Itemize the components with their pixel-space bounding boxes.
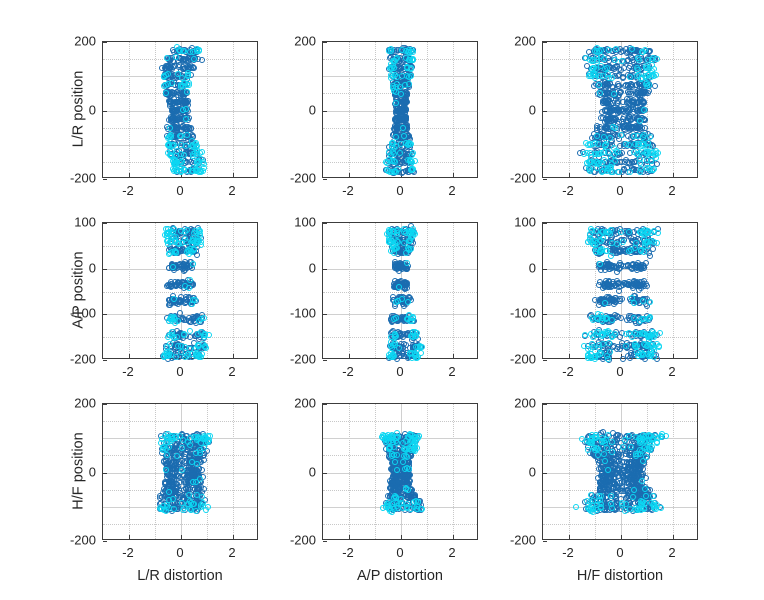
scatter-marker	[192, 297, 198, 303]
y-tick-mark	[103, 179, 107, 180]
y-tick-label: 100	[268, 215, 316, 230]
scatter-marker	[637, 118, 643, 124]
scatter-marker	[409, 152, 415, 158]
x-tick-mark	[233, 535, 234, 539]
y-tick-mark	[543, 42, 547, 43]
scatter-marker	[620, 99, 626, 105]
scatter-marker	[410, 334, 416, 340]
x-tick-label: 0	[616, 364, 623, 379]
x-tick-label: 2	[668, 183, 675, 198]
scatter-marker	[191, 56, 197, 62]
scatter-marker	[646, 82, 652, 88]
scatter-marker	[190, 479, 196, 485]
axes-box	[542, 41, 698, 178]
gridline-vertical	[453, 404, 454, 539]
scatter-marker	[650, 167, 656, 173]
scatter-marker	[186, 248, 192, 254]
scatter-marker	[194, 350, 200, 356]
scatter-marker	[170, 264, 176, 270]
x-tick-mark	[569, 354, 570, 358]
x-tick-mark	[129, 173, 130, 177]
scatter-marker	[196, 158, 202, 164]
scatter-marker	[619, 58, 625, 64]
scatter-marker	[633, 125, 639, 131]
scatter-marker	[613, 46, 619, 52]
x-tick-label: 2	[228, 545, 235, 560]
scatter-marker	[388, 48, 394, 54]
x-tick-mark	[233, 354, 234, 358]
scatter-marker	[642, 47, 648, 53]
scatter-marker	[620, 124, 626, 130]
scatter-marker	[173, 435, 179, 441]
scatter-marker	[174, 453, 180, 459]
scatter-marker	[626, 248, 632, 254]
scatter-marker	[165, 71, 171, 77]
x-tick-label: 2	[228, 364, 235, 379]
scatter-marker	[188, 159, 194, 165]
scatter-panel-r1-c0	[102, 222, 258, 359]
scatter-marker	[598, 47, 604, 53]
scatter-marker	[604, 315, 610, 321]
scatter-marker	[406, 74, 412, 80]
gridline-vertical	[207, 404, 208, 539]
scatter-marker	[175, 343, 181, 349]
scatter-marker	[629, 159, 635, 165]
scatter-marker	[651, 73, 657, 79]
gridline-vertical	[375, 42, 376, 177]
scatter-marker	[620, 239, 626, 245]
scatter-marker	[586, 159, 592, 165]
scatter-marker	[592, 242, 598, 248]
axes-box	[102, 41, 258, 178]
scatter-marker	[406, 238, 412, 244]
scatter-marker	[596, 82, 602, 88]
x-tick-label: -2	[562, 364, 574, 379]
scatter-marker	[183, 317, 189, 323]
scatter-marker	[585, 346, 591, 352]
y-tick-mark	[323, 111, 327, 112]
x-tick-label: 2	[448, 545, 455, 560]
gridline-vertical	[155, 404, 156, 539]
y-tick-mark	[103, 360, 107, 361]
scatter-marker	[187, 435, 193, 441]
scatter-marker	[180, 107, 186, 113]
scatter-marker	[637, 160, 643, 166]
scatter-marker	[648, 332, 654, 338]
scatter-marker	[604, 108, 610, 114]
scatter-marker	[180, 507, 186, 513]
scatter-marker	[407, 350, 413, 356]
x-tick-label: 2	[228, 183, 235, 198]
y-tick-mark	[103, 473, 107, 474]
y-axis-label-row0: L/R position	[71, 40, 87, 177]
scatter-marker	[193, 450, 199, 456]
scatter-marker	[601, 157, 607, 163]
axes-box	[322, 403, 478, 540]
y-tick-mark	[103, 541, 107, 542]
y-tick-label: -200	[488, 352, 536, 367]
scatter-panel-r1-c1	[322, 222, 478, 359]
gridline-vertical	[129, 404, 130, 539]
y-tick-label: 0	[268, 102, 316, 117]
scatter-marker	[641, 249, 647, 255]
scatter-marker	[184, 89, 190, 95]
scatter-marker	[623, 141, 629, 147]
scatter-marker	[618, 67, 624, 73]
x-tick-label: -2	[122, 183, 134, 198]
x-tick-label: 0	[176, 364, 183, 379]
scatter-marker	[635, 92, 641, 98]
scatter-marker	[392, 168, 398, 174]
gridline-vertical	[569, 42, 570, 177]
scatter-marker	[604, 65, 610, 71]
y-tick-mark	[543, 223, 547, 224]
scatter-marker	[199, 467, 205, 473]
scatter-marker	[641, 316, 647, 322]
scatter-marker	[178, 89, 184, 95]
y-tick-mark	[323, 223, 327, 224]
scatter-marker	[623, 331, 629, 337]
scatter-marker	[182, 236, 188, 242]
x-tick-label: 2	[448, 364, 455, 379]
scatter-marker	[198, 502, 204, 508]
scatter-marker	[410, 49, 416, 55]
scatter-marker	[176, 473, 182, 479]
scatter-marker	[182, 99, 188, 105]
x-tick-label: 0	[396, 545, 403, 560]
scatter-marker	[184, 132, 190, 138]
x-tick-label: 2	[448, 183, 455, 198]
scatter-marker	[160, 503, 166, 509]
scatter-marker	[163, 467, 169, 473]
x-tick-label: 2	[668, 364, 675, 379]
scatter-marker	[186, 492, 192, 498]
scatter-marker	[196, 47, 202, 53]
scatter-marker	[200, 168, 206, 174]
scatter-marker	[656, 343, 662, 349]
scatter-marker	[178, 169, 184, 175]
scatter-marker	[180, 83, 186, 89]
y-tick-mark	[103, 404, 107, 405]
scatter-marker	[631, 109, 637, 115]
scatter-marker	[164, 452, 170, 458]
scatter-marker	[166, 302, 172, 308]
x-tick-mark	[453, 173, 454, 177]
x-tick-label: 0	[396, 364, 403, 379]
scatter-marker	[609, 75, 615, 81]
scatter-marker	[171, 314, 177, 320]
gridline-vertical	[233, 42, 234, 177]
scatter-marker	[627, 74, 633, 80]
x-tick-mark	[129, 535, 130, 539]
scatter-marker	[648, 353, 654, 359]
x-tick-label: 0	[176, 545, 183, 560]
scatter-marker	[643, 65, 649, 71]
scatter-marker	[593, 159, 599, 165]
scatter-panel-r1-c2	[542, 222, 698, 359]
gridline-vertical	[349, 404, 350, 539]
scatter-marker	[599, 333, 605, 339]
scatter-marker	[633, 240, 639, 246]
gridline-vertical	[427, 404, 428, 539]
gridline-vertical	[233, 404, 234, 539]
x-tick-label: -2	[562, 183, 574, 198]
scatter-marker	[623, 343, 629, 349]
scatter-marker	[168, 153, 174, 159]
gridline-vertical	[453, 42, 454, 177]
x-tick-label: -2	[342, 364, 354, 379]
scatter-marker	[393, 315, 399, 321]
scatter-panel-r2-c0	[102, 403, 258, 540]
x-tick-label: 0	[396, 183, 403, 198]
y-tick-label: -200	[268, 352, 316, 367]
scatter-marker	[404, 92, 410, 98]
scatter-marker	[596, 151, 602, 157]
scatter-marker	[193, 508, 199, 514]
scatter-marker	[590, 141, 596, 147]
y-tick-mark	[543, 314, 547, 315]
scatter-marker	[635, 283, 641, 289]
y-tick-label: 0	[268, 464, 316, 479]
scatter-marker	[199, 149, 205, 155]
scatter-marker	[597, 90, 603, 96]
x-tick-label: -2	[122, 364, 134, 379]
gridline-horizontal	[103, 292, 257, 293]
scatter-marker	[181, 268, 187, 274]
gridline-horizontal	[323, 421, 477, 422]
scatter-marker	[655, 230, 661, 236]
scatter-marker	[388, 240, 394, 246]
y-tick-mark	[323, 314, 327, 315]
scatter-marker	[588, 354, 594, 360]
scatter-marker	[169, 332, 175, 338]
scatter-marker	[203, 507, 209, 513]
scatter-marker	[387, 228, 393, 234]
scatter-marker	[635, 67, 641, 73]
scatter-marker	[641, 107, 647, 113]
scatter-marker	[182, 283, 188, 289]
y-tick-mark	[543, 111, 547, 112]
scatter-marker	[166, 489, 172, 495]
scatter-marker	[615, 281, 621, 287]
y-tick-mark	[543, 179, 547, 180]
scatter-marker	[600, 341, 606, 347]
y-tick-label: -100	[488, 306, 536, 321]
scatter-marker	[405, 299, 411, 305]
gridline-vertical	[673, 42, 674, 177]
y-tick-label: 100	[488, 215, 536, 230]
scatter-marker	[596, 282, 602, 288]
y-tick-mark	[103, 223, 107, 224]
scatter-marker	[648, 158, 654, 164]
y-tick-mark	[543, 360, 547, 361]
gridline-vertical	[375, 404, 376, 539]
scatter-marker	[412, 158, 418, 164]
scatter-marker	[640, 330, 646, 336]
gridline-vertical	[207, 42, 208, 177]
scatter-panel-r2-c1	[322, 403, 478, 540]
gridline-horizontal	[103, 524, 257, 525]
y-tick-mark	[103, 314, 107, 315]
scatter-marker	[190, 261, 196, 267]
y-tick-label: 200	[268, 34, 316, 49]
scatter-marker	[192, 228, 198, 234]
scatter-marker	[645, 342, 651, 348]
scatter-marker	[607, 231, 613, 237]
scatter-marker	[178, 228, 184, 234]
x-tick-mark	[569, 173, 570, 177]
scatter-marker	[419, 506, 425, 512]
scatter-marker	[397, 150, 403, 156]
scatter-marker	[402, 100, 408, 106]
scatter-marker	[178, 158, 184, 164]
scatter-marker	[173, 125, 179, 131]
gridline-vertical	[349, 42, 350, 177]
y-tick-label: -200	[268, 171, 316, 186]
y-tick-label: 0	[488, 260, 536, 275]
scatter-marker	[187, 442, 193, 448]
scatter-marker	[627, 169, 633, 175]
scatter-marker	[419, 344, 425, 350]
scatter-panel-r0-c1	[322, 41, 478, 178]
scatter-marker	[608, 253, 614, 259]
scatter-marker	[170, 115, 176, 121]
scatter-marker	[609, 334, 615, 340]
scatter-marker	[602, 142, 608, 148]
y-tick-label: 0	[268, 260, 316, 275]
axes-box	[542, 222, 698, 359]
y-tick-mark	[103, 269, 107, 270]
scatter-marker	[182, 300, 188, 306]
scatter-marker	[393, 134, 399, 140]
scatter-marker	[166, 251, 172, 257]
scatter-marker	[395, 298, 401, 304]
x-axis-label-col0: L/R distortion	[137, 568, 222, 584]
y-tick-label: -200	[488, 171, 536, 186]
gridline-vertical	[427, 42, 428, 177]
scatter-marker	[625, 353, 631, 359]
scatter-marker	[176, 459, 182, 465]
axes-box	[102, 222, 258, 359]
scatter-marker	[647, 299, 653, 305]
scatter-marker	[171, 506, 177, 512]
scatter-marker	[189, 168, 195, 174]
scatter-marker	[626, 229, 632, 235]
scatter-marker	[598, 247, 604, 253]
scatter-marker	[183, 116, 189, 122]
y-tick-label: -100	[268, 306, 316, 321]
y-tick-label: -200	[268, 533, 316, 548]
scatter-marker	[650, 149, 656, 155]
scatter-marker	[618, 132, 624, 138]
y-tick-mark	[323, 42, 327, 43]
gridline-horizontal	[103, 421, 257, 422]
x-tick-mark	[233, 173, 234, 177]
scatter-marker	[594, 59, 600, 65]
scatter-marker	[205, 433, 211, 439]
scatter-marker	[186, 125, 192, 131]
scatter-marker	[169, 80, 175, 86]
scatter-marker	[412, 351, 418, 357]
gridline-vertical	[155, 42, 156, 177]
axes-box	[102, 403, 258, 540]
y-tick-mark	[323, 269, 327, 270]
scatter-panel-r0-c2	[542, 41, 698, 178]
x-tick-mark	[181, 535, 182, 539]
scatter-marker	[611, 91, 617, 97]
scatter-marker	[604, 259, 610, 265]
y-tick-mark	[323, 360, 327, 361]
x-tick-mark	[349, 173, 350, 177]
scatter-marker	[611, 301, 617, 307]
distortion-scatter-matrix-figure: -2022000-200L/R position-2022000-200-202…	[0, 0, 764, 600]
scatter-marker	[164, 344, 170, 350]
gridline-vertical	[129, 42, 130, 177]
scatter-marker	[617, 89, 623, 95]
x-tick-label: -2	[342, 545, 354, 560]
x-tick-mark	[349, 354, 350, 358]
scatter-marker	[587, 231, 593, 237]
scatter-marker	[388, 66, 394, 72]
scatter-marker	[604, 91, 610, 97]
scatter-marker	[390, 85, 396, 91]
scatter-marker	[410, 166, 416, 172]
scatter-marker	[652, 83, 658, 89]
scatter-marker	[189, 238, 195, 244]
x-tick-label: 0	[176, 183, 183, 198]
scatter-marker	[616, 288, 622, 294]
x-tick-mark	[453, 354, 454, 358]
scatter-marker	[197, 476, 203, 482]
y-tick-mark	[543, 269, 547, 270]
scatter-panel-r0-c0	[102, 41, 258, 178]
scatter-marker	[593, 66, 599, 72]
y-axis-label-row1: A/P position	[71, 221, 87, 358]
x-tick-mark	[673, 173, 674, 177]
y-tick-label: 200	[268, 396, 316, 411]
scatter-marker	[179, 500, 185, 506]
scatter-marker	[600, 73, 606, 79]
scatter-marker	[640, 298, 646, 304]
gridline-horizontal	[323, 524, 477, 525]
scatter-marker	[648, 230, 654, 236]
scatter-marker	[611, 145, 617, 151]
y-tick-mark	[103, 111, 107, 112]
scatter-marker	[602, 300, 608, 306]
scatter-marker	[647, 134, 653, 140]
scatter-marker	[610, 169, 616, 175]
scatter-marker	[167, 125, 173, 131]
scatter-marker	[609, 317, 615, 323]
x-tick-mark	[129, 354, 130, 358]
y-tick-mark	[103, 42, 107, 43]
scatter-marker	[609, 263, 615, 269]
scatter-marker	[640, 264, 646, 270]
x-tick-label: 0	[616, 183, 623, 198]
x-tick-label: -2	[122, 545, 134, 560]
x-tick-mark	[673, 354, 674, 358]
y-tick-label: 200	[488, 34, 536, 49]
axes-box	[322, 222, 478, 359]
scatter-marker	[586, 165, 592, 171]
scatter-marker	[393, 56, 399, 62]
scatter-marker	[173, 54, 179, 60]
scatter-marker	[608, 164, 614, 170]
scatter-marker	[616, 169, 622, 175]
scatter-marker	[657, 330, 663, 336]
axes-box	[322, 41, 478, 178]
scatter-marker	[164, 55, 170, 61]
